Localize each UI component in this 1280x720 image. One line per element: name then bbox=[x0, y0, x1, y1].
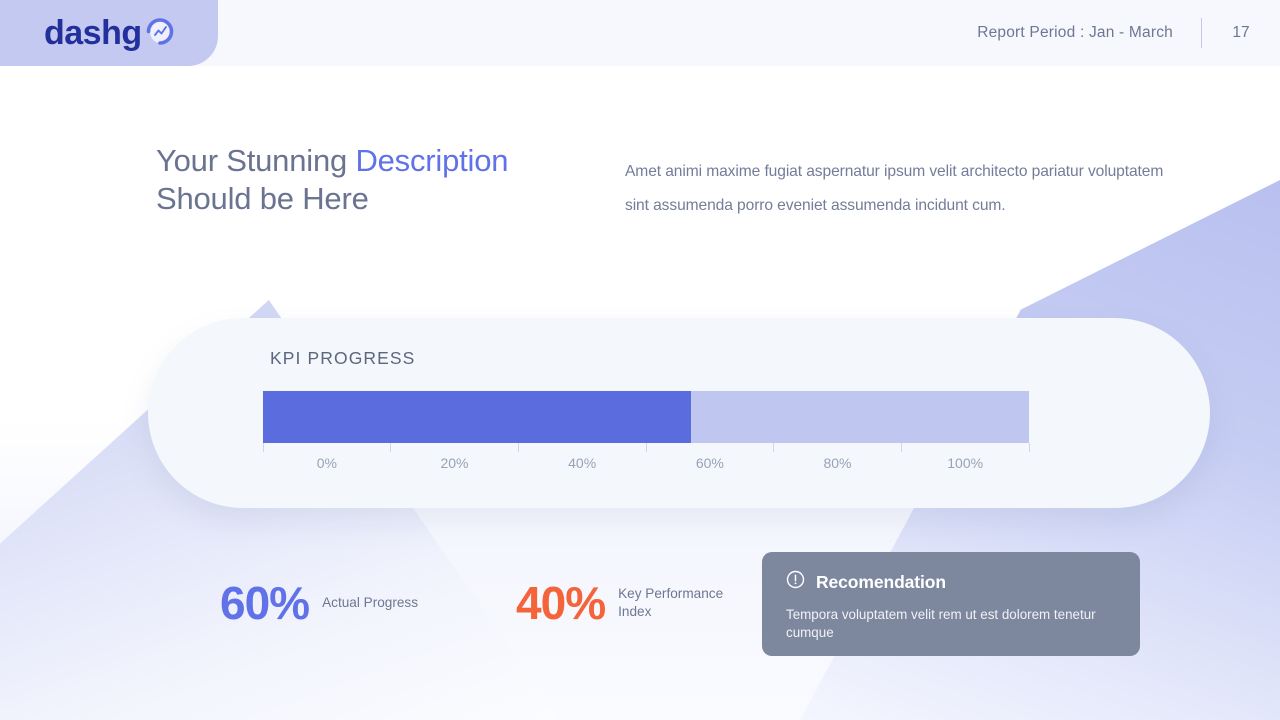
axis-tick-label: 0% bbox=[317, 455, 337, 471]
recommendation-box: Recomendation Tempora voluptatem velit r… bbox=[762, 552, 1140, 656]
kpi-card-title: KPI PROGRESS bbox=[270, 348, 415, 369]
axis-tick bbox=[773, 443, 774, 452]
header-meta: Report Period : Jan - March 17 bbox=[977, 0, 1280, 66]
page-title-accent: Description bbox=[355, 143, 508, 178]
kpi-progress-chart: 0%20%40%60%80%100% bbox=[263, 391, 1029, 477]
stats-row: 60% Actual Progress 40% Key Performance … bbox=[220, 580, 748, 626]
logo-text: dashg bbox=[44, 16, 142, 50]
stat-value: 40% bbox=[516, 580, 605, 626]
axis-tick-label: 80% bbox=[823, 455, 851, 471]
axis-tick-label: 100% bbox=[947, 455, 983, 471]
axis-tick-label: 60% bbox=[696, 455, 724, 471]
stat-value: 60% bbox=[220, 580, 309, 626]
chart-circle-icon bbox=[143, 14, 177, 53]
axis-tick bbox=[901, 443, 902, 452]
page-header: dashg Report Period : Jan - March 17 bbox=[0, 0, 1280, 66]
page-title: Your Stunning Description Should be Here bbox=[156, 142, 556, 219]
exclamation-circle-icon bbox=[786, 570, 805, 594]
axis-tick-label: 40% bbox=[568, 455, 596, 471]
progress-bar-track bbox=[263, 391, 1029, 443]
stat-label: Key Performance Index bbox=[618, 585, 748, 621]
chart-axis-labels: 0%20%40%60%80%100% bbox=[263, 455, 1029, 477]
axis-tick bbox=[390, 443, 391, 452]
progress-bar-fill bbox=[263, 391, 691, 443]
lead-paragraph: Amet animi maxime fugiat aspernatur ipsu… bbox=[625, 155, 1177, 223]
stat-actual-progress: 60% Actual Progress bbox=[220, 580, 418, 626]
stat-key-performance-index: 40% Key Performance Index bbox=[516, 580, 748, 626]
recommendation-header: Recomendation bbox=[786, 570, 1116, 594]
report-period-label: Report Period : Jan - March bbox=[977, 24, 1201, 42]
axis-tick bbox=[518, 443, 519, 452]
chart-axis-ticks bbox=[263, 443, 1029, 452]
stat-label: Actual Progress bbox=[322, 594, 418, 612]
axis-tick bbox=[1029, 443, 1030, 452]
recommendation-body: Tempora voluptatem velit rem ut est dolo… bbox=[786, 606, 1116, 642]
recommendation-title: Recomendation bbox=[816, 572, 946, 593]
page-title-part2: Should be Here bbox=[156, 181, 369, 216]
axis-tick bbox=[646, 443, 647, 452]
page-number: 17 bbox=[1202, 24, 1280, 42]
page-title-part1: Your Stunning bbox=[156, 143, 355, 178]
axis-tick-label: 20% bbox=[440, 455, 468, 471]
logo[interactable]: dashg bbox=[0, 0, 218, 66]
axis-tick bbox=[263, 443, 264, 452]
